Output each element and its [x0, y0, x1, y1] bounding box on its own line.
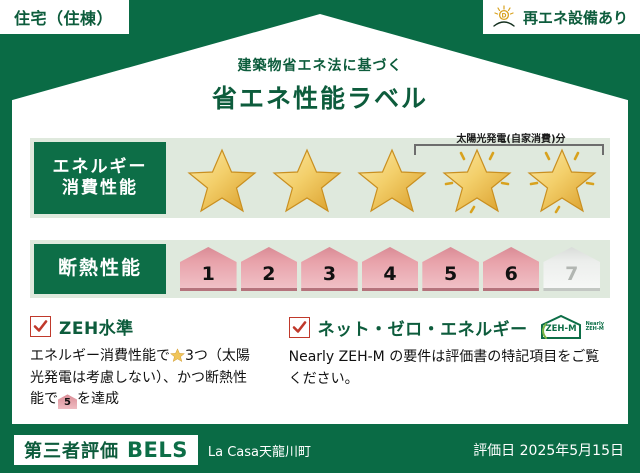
net-zero-energy-title: ネット・ゼロ・エネルギー	[318, 315, 528, 340]
net-zero-energy-description: Nearly ZEH-M の要件は評価書の特記項目をご覧ください。	[289, 347, 604, 390]
energy-performance-row: エネルギー 消費性能 太陽光発電(自家消費)分	[30, 138, 610, 218]
insulation-badge-6: 6	[483, 247, 540, 291]
zeh-standard-title: ZEH水準	[59, 314, 134, 339]
insulation-grade-badges: 1 2 3 4 5 6 7	[180, 244, 600, 294]
building-type-tag: 住宅（住棟）	[0, 0, 129, 34]
zeh-m-logo: ZEH-M Nearly ZEH-M	[538, 314, 604, 340]
insulation-badge-5: 5	[422, 247, 479, 291]
label-title: 建築物省エネ法に基づく 省エネ性能ラベル	[0, 55, 640, 115]
building-type-text: 住宅（住棟）	[14, 5, 113, 29]
star-filled-1	[186, 146, 258, 214]
insulation-performance-row: 断熱性能 1 2 3 4 5 6 7	[30, 240, 610, 298]
net-zero-checkbox-checked-icon	[289, 317, 310, 338]
insulation-badge-3: 3	[301, 247, 358, 291]
star-filled-2	[271, 146, 343, 214]
energy-star-rating	[180, 146, 604, 214]
energy-label-line1: エネルギー	[53, 157, 148, 178]
svg-text:D: D	[501, 13, 506, 20]
renewable-energy-sun-icon: D	[491, 5, 517, 29]
insulation-badge-7: 7	[543, 247, 600, 291]
star-filled-solar-4	[441, 146, 513, 214]
net-zero-energy-note: ネット・ゼロ・エネルギー ZEH-M Nearly ZEH-M Nearly Z…	[267, 314, 614, 414]
insulation-label-text: 断熱性能	[58, 257, 142, 281]
label-notes: ZEH水準 エネルギー消費性能で3つ（太陽光発電は考慮しない）、かつ断熱性能で5…	[30, 314, 614, 414]
inline-insulation-badge: 5	[58, 394, 77, 409]
insulation-performance-label-box: 断熱性能	[34, 244, 166, 294]
building-name: La Casa天龍川町	[208, 441, 311, 460]
label-footer: 第三者評価 BELS La Casa天龍川町 評価日 2025年5月15日	[0, 427, 640, 473]
zeh-standard-checkbox-checked-icon	[30, 316, 51, 337]
renewable-energy-tag: D 再エネ設備あり	[483, 0, 640, 34]
title-main: 省エネ性能ラベル	[0, 79, 640, 115]
zeh-standard-heading: ZEH水準	[30, 314, 257, 339]
zeh-m-house-icon: ZEH-M	[538, 314, 584, 340]
zeh-standard-description: エネルギー消費性能で3つ（太陽光発電は考慮しない）、かつ断熱性能で5を達成	[30, 346, 257, 411]
zeh-standard-note: ZEH水準 エネルギー消費性能で3つ（太陽光発電は考慮しない）、かつ断熱性能で5…	[30, 314, 267, 414]
star-filled-solar-5	[526, 146, 598, 214]
insulation-badge-4: 4	[362, 247, 419, 291]
insulation-rating-area: 1 2 3 4 5 6 7	[166, 240, 610, 298]
energy-label-line2: 消費性能	[62, 178, 138, 199]
title-subtitle: 建築物省エネ法に基づく	[0, 55, 640, 75]
energy-performance-label-box: エネルギー 消費性能	[34, 142, 166, 214]
renewable-energy-text: 再エネ設備あり	[523, 7, 628, 28]
energy-performance-label: 住宅（住棟） D 再エネ設備あり 建築物省エネ法に基づく 省エネ性能ラベル	[0, 0, 640, 473]
net-zero-energy-heading: ネット・ゼロ・エネルギー ZEH-M Nearly ZEH-M	[289, 314, 604, 340]
bels-japanese-label: 第三者評価	[24, 437, 119, 463]
zeh-text-part3: を達成	[77, 391, 119, 407]
bels-logo-text: BELS	[127, 438, 188, 462]
svg-text:ZEH-M: ZEH-M	[545, 324, 576, 334]
zeh-m-sub-line2: ZEH-M	[586, 326, 604, 332]
solar-generation-note: 太陽光発電(自家消費)分	[416, 130, 606, 145]
insulation-badge-1: 1	[180, 247, 237, 291]
zeh-m-logo-subtext: Nearly ZEH-M	[586, 322, 604, 333]
zeh-text-part1: エネルギー消費性能で	[30, 348, 170, 364]
energy-rating-area: 太陽光発電(自家消費)分	[166, 138, 610, 218]
inline-star-icon	[170, 348, 185, 363]
star-filled-3	[356, 146, 428, 214]
bels-certification-box: 第三者評価 BELS	[14, 435, 198, 465]
insulation-badge-2: 2	[241, 247, 298, 291]
evaluation-date: 評価日 2025年5月15日	[473, 440, 624, 460]
